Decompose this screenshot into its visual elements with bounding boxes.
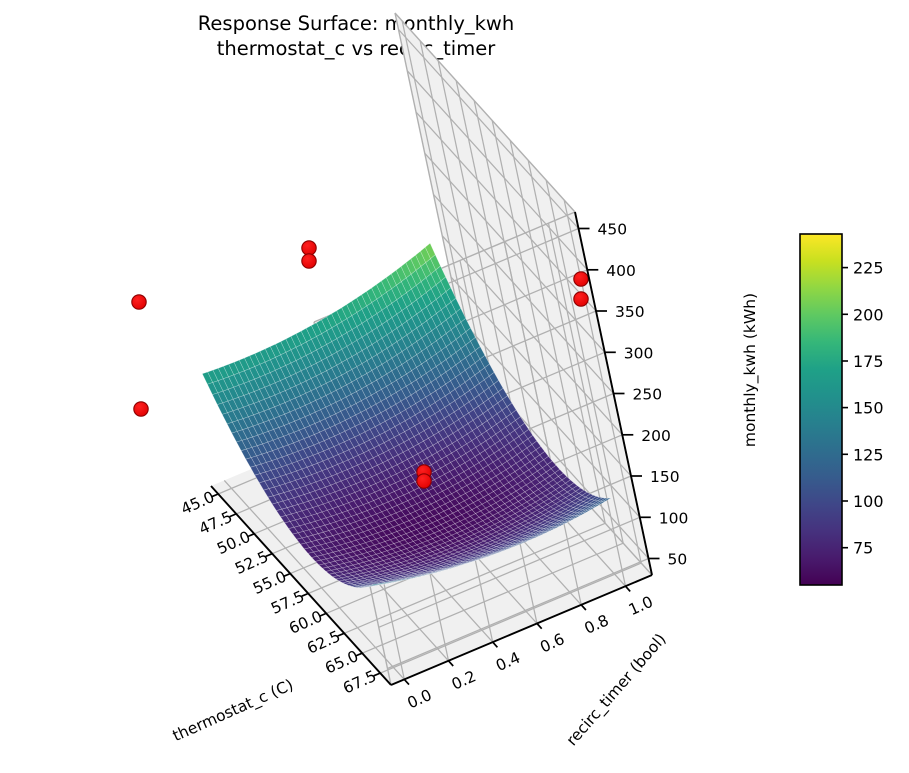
chart-title-line1: Response Surface: monthly_kwh bbox=[198, 12, 515, 35]
response-surface-plot: Response Surface: monthly_kwh thermostat… bbox=[0, 0, 909, 773]
z-tick-label: 350 bbox=[615, 303, 645, 321]
colorbar-tick-label: 75 bbox=[853, 539, 873, 558]
y-tick-mark bbox=[493, 642, 498, 647]
colorbar-tick-label: 225 bbox=[853, 259, 884, 278]
x-tick-label: 65.0 bbox=[322, 647, 361, 677]
axes-3d: 45.047.550.052.555.057.560.062.565.067.5… bbox=[132, 13, 760, 750]
y-tick-mark bbox=[449, 661, 454, 666]
scatter-point bbox=[574, 292, 588, 306]
colorbar-tick-label: 200 bbox=[853, 305, 884, 324]
chart-title-line2: thermostat_c vs recirc_timer bbox=[217, 37, 496, 60]
z-tick-label: 300 bbox=[624, 344, 654, 362]
colorbar-tick-label: 125 bbox=[853, 445, 884, 464]
y-tick-label: 0.6 bbox=[537, 630, 567, 656]
colorbar-tick-label: 150 bbox=[853, 399, 884, 418]
z-tick-label: 50 bbox=[668, 551, 688, 569]
y-tick-mark bbox=[404, 679, 409, 684]
figure-root: Response Surface: monthly_kwh thermostat… bbox=[0, 0, 909, 773]
z-tick-label: 250 bbox=[633, 386, 663, 404]
y-tick-mark bbox=[626, 586, 631, 591]
scatter-point bbox=[574, 272, 588, 286]
scatter-point bbox=[417, 474, 431, 488]
z-tick-label: 450 bbox=[598, 221, 628, 239]
x-tick-label: 67.5 bbox=[340, 667, 379, 697]
colorbar-ticks: 75100125150175200225 bbox=[842, 259, 884, 558]
z-axis-label: monthly_kwh (kWh) bbox=[741, 293, 760, 447]
scatter-point bbox=[134, 402, 148, 416]
x-axis-label: thermostat_c (C) bbox=[170, 676, 296, 746]
x-tick-label: 62.5 bbox=[304, 627, 343, 657]
colorbar-tick-label: 100 bbox=[853, 492, 884, 511]
y-tick-label: 0.2 bbox=[449, 667, 479, 693]
z-tick-label: 150 bbox=[650, 468, 680, 486]
colorbar-tick-label: 175 bbox=[853, 352, 884, 371]
scatter-point bbox=[302, 241, 316, 255]
x-tick-label: 52.5 bbox=[232, 548, 271, 578]
x-tick-label: 50.0 bbox=[214, 528, 253, 558]
y-tick-label: 0.8 bbox=[582, 611, 612, 637]
z-tick-label: 400 bbox=[606, 262, 636, 280]
y-axis-label: recirc_timer (bool) bbox=[563, 630, 671, 750]
y-tick-mark bbox=[581, 605, 586, 610]
x-tick-label: 57.5 bbox=[268, 587, 307, 617]
y-tick-label: 0.4 bbox=[493, 649, 523, 675]
x-tick-label: 55.0 bbox=[250, 567, 289, 597]
scatter-point bbox=[302, 254, 316, 268]
z-tick-label: 100 bbox=[659, 509, 689, 527]
y-tick-label: 1.0 bbox=[626, 593, 656, 619]
colorbar-gradient bbox=[800, 234, 842, 585]
x-tick-label: 47.5 bbox=[196, 508, 235, 538]
y-tick-mark bbox=[537, 624, 542, 629]
colorbar: 75100125150175200225 bbox=[800, 234, 884, 585]
y-tick-label: 0.0 bbox=[405, 686, 435, 712]
x-tick-label: 45.0 bbox=[178, 488, 217, 518]
z-tick-label: 200 bbox=[641, 427, 671, 445]
x-tick-label: 60.0 bbox=[286, 607, 325, 637]
scatter-point bbox=[132, 295, 146, 309]
